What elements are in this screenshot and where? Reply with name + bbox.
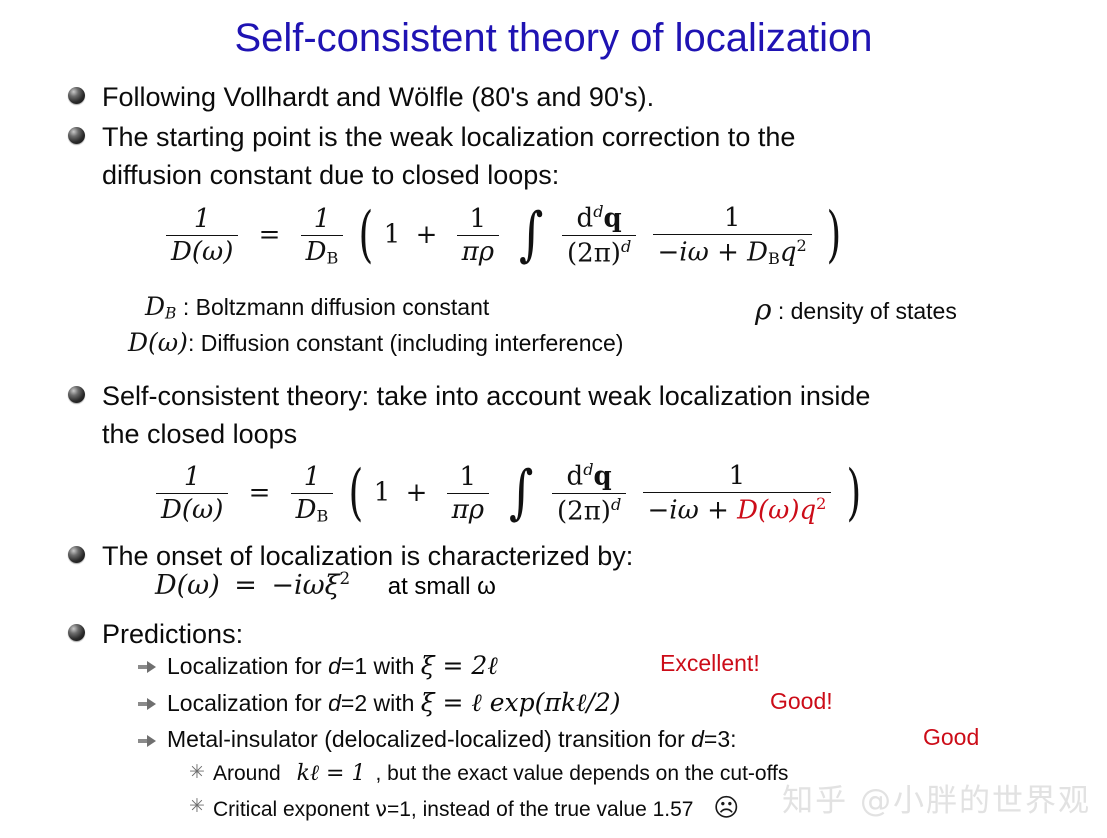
definition-boltzmann-constant: DB : Boltzmann diffusion constant	[145, 292, 489, 322]
verdict-good: Good	[923, 724, 979, 751]
dimension-symbol: d	[691, 726, 704, 752]
bullet-sphere-icon	[68, 624, 85, 641]
equals-sign: =	[259, 220, 281, 250]
right-paren: )	[827, 199, 842, 270]
numerator: 1	[724, 461, 751, 492]
denominator: DB	[301, 235, 344, 268]
bullet-item-following: Following Vollhardt and Wölfle (80's and…	[68, 78, 1048, 116]
fraction-one-over-pi-rho: 1 πρ	[447, 462, 489, 525]
denominator: πρ	[447, 493, 489, 525]
fraction-rhs-prefactor: 1 DB	[291, 462, 334, 526]
denominator: πρ	[457, 235, 499, 267]
numerator: ddq	[562, 460, 617, 493]
subnote-item-critical-exponent: ✳ Critical exponent ν=1, instead of the …	[188, 793, 1048, 825]
at-small-omega-text: at small ω	[388, 573, 496, 600]
definition-diffusion-constant: D(ω): Diffusion constant (including inte…	[128, 328, 623, 357]
numerator: 1	[189, 204, 216, 235]
dimension-symbol: d	[328, 653, 341, 679]
xi-relation: ξ = 2ℓ	[421, 651, 498, 680]
denominator: DB	[291, 493, 334, 526]
prediction-text: Metal-insulator (delocalized-localized) …	[167, 723, 737, 756]
fraction-kernel: 1 −iω + D(ω)q2	[643, 461, 832, 526]
equation-weak-localization: 1 D(ω) = 1 DB ( 1 + 1 πρ ∫ ddq (2π)d 1 −…	[162, 200, 844, 271]
definition-text: : Diffusion constant (including interfer…	[188, 330, 624, 356]
bullet-sphere-icon	[68, 87, 85, 104]
prediction-item-d1: Localization for d=1 with ξ = 2ℓ	[137, 649, 1037, 683]
bullet-text-line1: Self-consistent theory: take into accoun…	[102, 377, 870, 415]
equation-self-consistent: 1 D(ω) = 1 DB ( 1 + 1 πρ ∫ ddq (2π)d 1 −…	[152, 458, 863, 529]
denominator: (2π)d	[552, 493, 626, 527]
denominator: −iω + D(ω)q2	[643, 492, 832, 526]
bullet-text-line2: the closed loops	[102, 415, 870, 453]
numerator: 1	[465, 204, 492, 235]
denominator: (2π)d	[562, 235, 636, 269]
prediction-item-d3: Metal-insulator (delocalized-localized) …	[137, 723, 1037, 756]
prediction-text: Localization for d=1 with ξ = 2ℓ	[167, 649, 498, 683]
bullet-item-self-consistent: Self-consistent theory: take into accoun…	[68, 377, 1068, 453]
bullet-text-line1: The starting point is the weak localizat…	[102, 118, 795, 156]
equals-sign: =	[234, 570, 257, 601]
symbol-rho: ρ	[755, 293, 771, 326]
bullet-item-starting-point: The starting point is the weak localizat…	[68, 118, 1048, 194]
frowning-face-icon: ☹	[713, 793, 739, 822]
fraction-kernel: 1 −iω + DBq2	[653, 203, 812, 268]
asterisk-star-icon: ✳	[188, 797, 206, 817]
bullet-item-predictions: Predictions:	[68, 615, 1048, 653]
left-paren: (	[358, 199, 373, 270]
right-paren: )	[846, 457, 861, 528]
prediction-text: Localization for d=2 with ξ = ℓ exp(πkℓ/…	[167, 686, 621, 720]
fraction-lhs: 1 D(ω)	[166, 204, 238, 267]
denominator: D(ω)	[166, 235, 238, 267]
numerator: 1	[455, 462, 482, 493]
subnote-text: Critical exponent ν=1, instead of the tr…	[213, 793, 739, 825]
arrow-right-icon	[137, 730, 159, 752]
highlighted-D-omega: D(ω)q	[737, 496, 816, 526]
asterisk-star-icon: ✳	[188, 763, 206, 783]
lhs-D-omega: D(ω)	[155, 570, 220, 601]
plus-sign: +	[416, 220, 438, 250]
symbol-D-omega: D(ω)	[128, 328, 188, 357]
bullet-sphere-icon	[68, 386, 85, 403]
fraction-lhs: 1 D(ω)	[156, 462, 228, 525]
verdict-good-exclaim: Good!	[770, 688, 833, 715]
equation-onset-condition: D(ω) = −iωξ2 at small ω	[155, 568, 496, 601]
constant-one: 1	[384, 220, 401, 250]
numerator: 1	[309, 204, 336, 235]
rhs-expression: −iωξ2	[271, 570, 350, 601]
arrow-right-icon	[137, 656, 159, 678]
subnote-text: Around kℓ = 1, but the exact value depen…	[213, 759, 788, 789]
bullet-text-line2: diffusion constant due to closed loops:	[102, 156, 795, 194]
nu-symbol: ν	[375, 797, 387, 821]
fraction-measure: ddq (2π)d	[562, 202, 636, 268]
fraction-measure: ddq (2π)d	[552, 460, 626, 526]
verdict-excellent: Excellent!	[660, 650, 760, 677]
dimension-symbol: d	[328, 690, 341, 716]
page-title: Self-consistent theory of localization	[0, 16, 1107, 61]
fraction-rhs-prefactor: 1 DB	[301, 204, 344, 268]
bullet-text: Following Vollhardt and Wölfle (80's and…	[102, 78, 654, 116]
bullet-sphere-icon	[68, 546, 85, 563]
left-paren: (	[348, 457, 363, 528]
numerator: 1	[719, 203, 746, 234]
prediction-item-d2: Localization for d=2 with ξ = ℓ exp(πkℓ/…	[137, 686, 1037, 720]
kl-relation: kℓ = 1	[297, 761, 366, 786]
constant-one: 1	[374, 478, 391, 508]
numerator: 1	[299, 462, 326, 493]
numerator: 1	[179, 462, 206, 493]
integral-sign: ∫	[509, 458, 533, 526]
bullet-sphere-icon	[68, 127, 85, 144]
integral-sign: ∫	[519, 200, 543, 268]
bullet-text: Predictions:	[102, 615, 243, 653]
denominator: −iω + DBq2	[653, 234, 812, 268]
arrow-right-icon	[137, 693, 159, 715]
plus-sign: +	[406, 478, 428, 508]
denominator: D(ω)	[156, 493, 228, 525]
symbol-D-B: DB	[145, 292, 176, 321]
definition-text: : density of states	[778, 298, 957, 324]
xi-relation: ξ = ℓ exp(πkℓ/2)	[421, 688, 621, 717]
definition-density-of-states: ρ : density of states	[755, 293, 957, 326]
fraction-one-over-pi-rho: 1 πρ	[457, 204, 499, 267]
definition-text: : Boltzmann diffusion constant	[183, 294, 489, 320]
subnote-item-around-kl: ✳ Around kℓ = 1, but the exact value dep…	[188, 759, 1048, 789]
numerator: ddq	[572, 202, 627, 235]
equals-sign: =	[249, 478, 271, 508]
